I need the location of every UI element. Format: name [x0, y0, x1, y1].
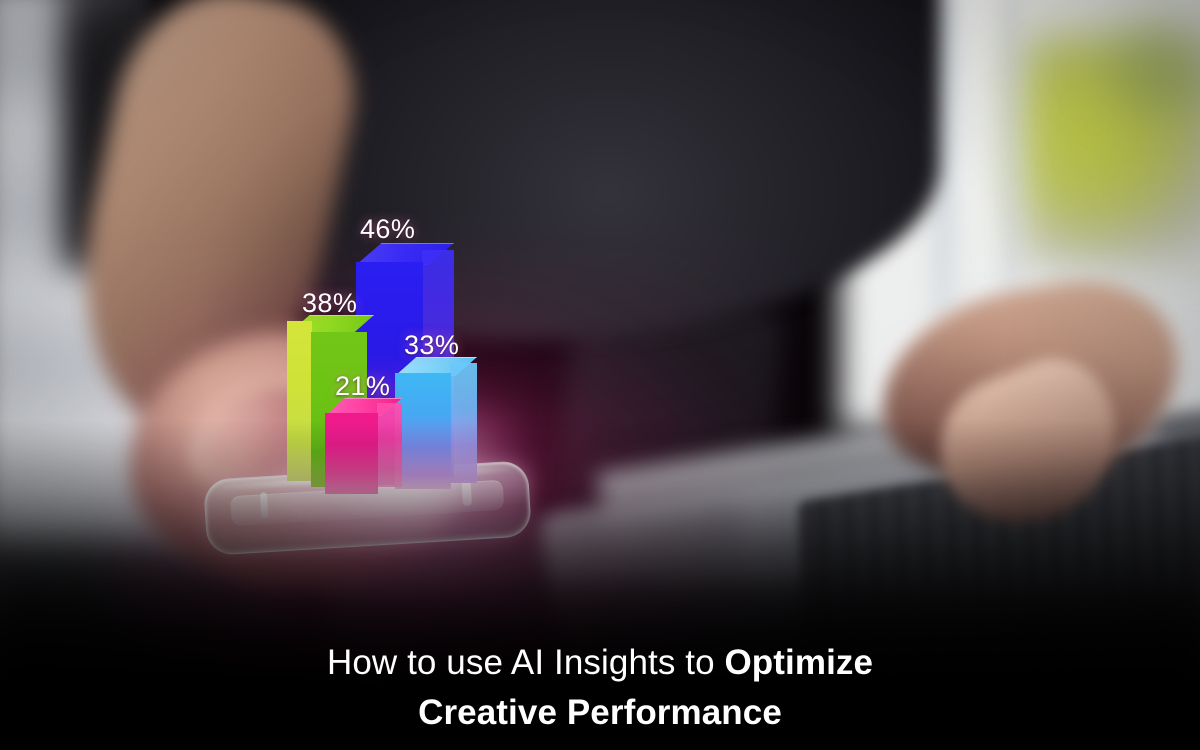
hero-banner: 46% 38% 33% 21% How to use AI Insights t… — [0, 0, 1200, 750]
hero-title-line-1: How to use AI Insights to Optimize — [0, 638, 1200, 688]
chart-label-green: 38% — [302, 288, 357, 319]
hero-title-block: How to use AI Insights to Optimize Creat… — [0, 638, 1200, 738]
chart-label-pink: 21% — [335, 371, 390, 402]
hero-title-regular-text: How to use AI Insights to — [327, 643, 725, 682]
hero-title-bold-creative-performance: Creative Performance — [418, 693, 782, 732]
hero-title-bold-optimize: Optimize — [724, 643, 873, 682]
chart-label-cyan: 33% — [404, 330, 459, 361]
hero-title-line-2: Creative Performance — [0, 688, 1200, 738]
chart-label-blue: 46% — [360, 214, 415, 245]
